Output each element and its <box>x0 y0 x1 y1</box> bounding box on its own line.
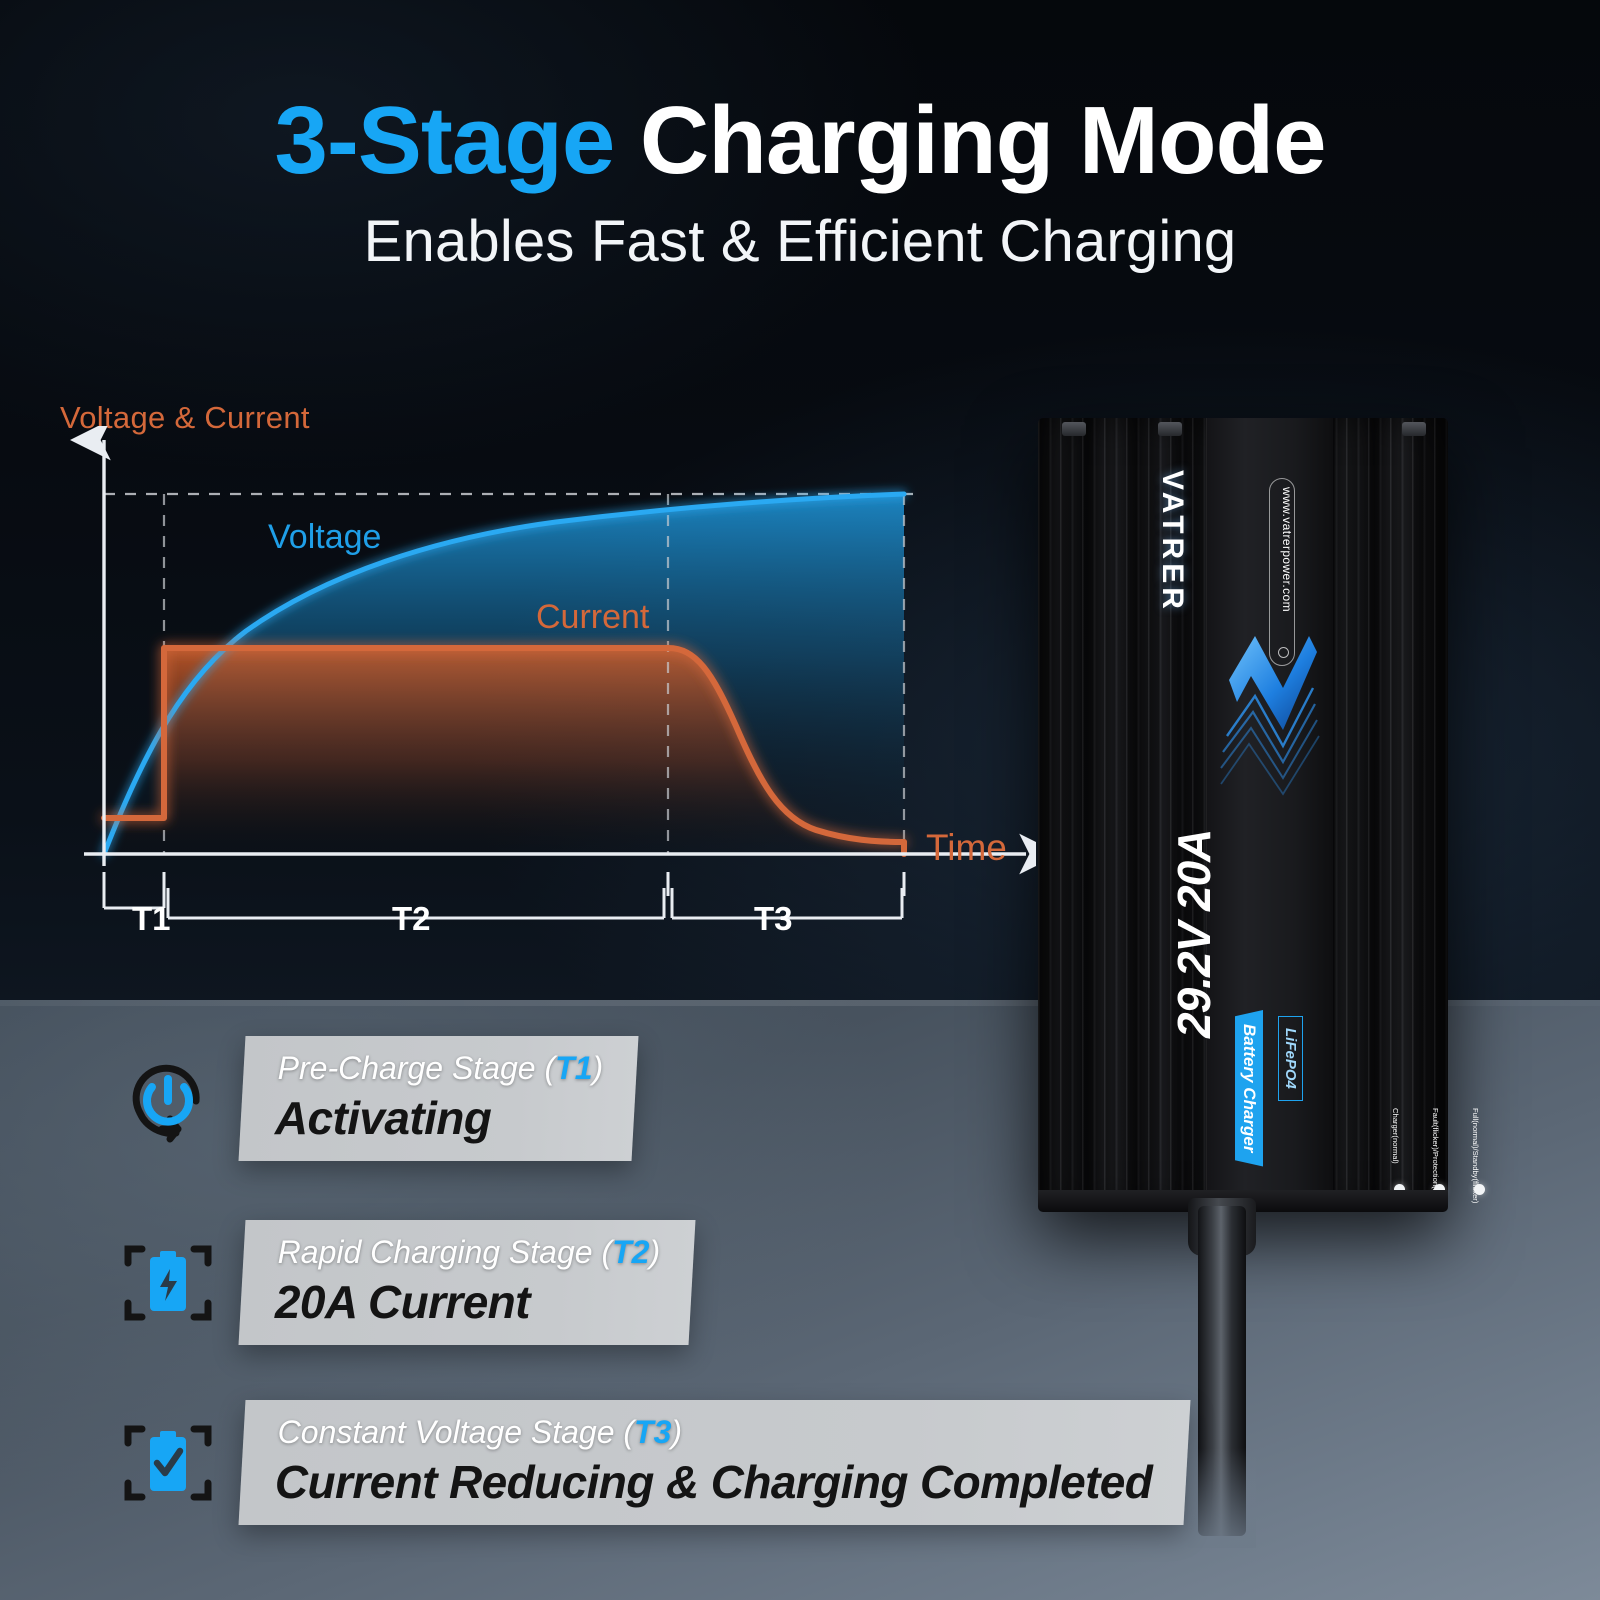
chart-svg <box>36 426 1036 966</box>
brand-logo-text: VATRER <box>1155 470 1189 640</box>
feature-item-constant-voltage[interactable]: Constant Voltage Stage (T3) Current Redu… <box>118 1400 1187 1525</box>
feature-value: Current Reducing & Charging Completed <box>275 1455 1152 1509</box>
stage-prefix: Rapid Charging Stage ( <box>278 1234 612 1270</box>
led-label: Charger(normal) <box>1390 1108 1399 1164</box>
page-title: 3-Stage Charging Mode <box>0 92 1600 190</box>
feature-item-precharge[interactable]: Pre-Charge Stage (T1) Activating <box>118 1036 635 1161</box>
battery-check-scan-icon <box>118 1413 218 1513</box>
chart-tick-t1: T1 <box>132 900 171 938</box>
website-url: www.vatrerpower.com <box>1280 487 1294 612</box>
feature-item-rapid-charging[interactable]: Rapid Charging Stage (T2) 20A Current <box>118 1220 692 1345</box>
header: 3-Stage Charging Mode Enables Fast & Eff… <box>0 92 1600 275</box>
stage-suffix: ) <box>649 1234 660 1270</box>
feature-stage-label: Rapid Charging Stage (T2) <box>278 1234 660 1271</box>
screw-cap <box>1158 422 1182 436</box>
charging-curve-chart: Voltage & Current <box>36 400 1036 980</box>
feature-plate: Constant Voltage Stage (T3) Current Redu… <box>239 1400 1191 1525</box>
feature-stage-label: Constant Voltage Stage (T3) <box>278 1414 1155 1451</box>
screw-cap <box>1402 422 1426 436</box>
spec-voltage-current: 29.2V 20A <box>1167 798 1221 1038</box>
stage-key: T2 <box>612 1234 649 1270</box>
spec-type-badge: Battery Charger <box>1235 1010 1263 1167</box>
chart-x-axis-label: Time <box>926 827 1007 869</box>
stage-key: T3 <box>634 1414 671 1450</box>
charger-housing: VATRER www.vatrerpower.com <box>1038 418 1448 1208</box>
feature-value: 20A Current <box>275 1275 657 1329</box>
feature-plate: Rapid Charging Stage (T2) 20A Current <box>239 1220 696 1345</box>
stage-key: T1 <box>555 1050 592 1086</box>
led-dot <box>1474 1184 1485 1195</box>
cable-fade-overlay <box>1188 1448 1256 1548</box>
title-accent: 3-Stage <box>274 87 614 194</box>
chart-series-label-voltage: Voltage <box>268 518 381 557</box>
title-rest: Charging Mode <box>614 87 1325 194</box>
battery-bolt-scan-icon <box>118 1233 218 1333</box>
stage-prefix: Pre-Charge Stage ( <box>278 1050 555 1086</box>
stage-prefix: Constant Voltage Stage ( <box>278 1414 634 1450</box>
power-refresh-icon <box>118 1049 218 1149</box>
feature-stage-label: Pre-Charge Stage (T1) <box>278 1050 603 1087</box>
page-subtitle: Enables Fast & Efficient Charging <box>0 208 1600 275</box>
feature-plate: Pre-Charge Stage (T1) Activating <box>239 1036 639 1161</box>
feature-value: Activating <box>275 1091 600 1145</box>
v-chevron-logo-icon <box>1221 618 1325 808</box>
chart-series-label-current: Current <box>536 598 649 637</box>
chart-tick-t2: T2 <box>392 900 431 938</box>
spec-chemistry-badge: LiFePO4 <box>1278 1016 1303 1101</box>
stage-suffix: ) <box>671 1414 682 1450</box>
charger-label-panel: VATRER www.vatrerpower.com <box>1206 418 1334 1208</box>
stage-suffix: ) <box>592 1050 603 1086</box>
chart-tick-t3: T3 <box>754 900 793 938</box>
screw-cap <box>1062 422 1086 436</box>
